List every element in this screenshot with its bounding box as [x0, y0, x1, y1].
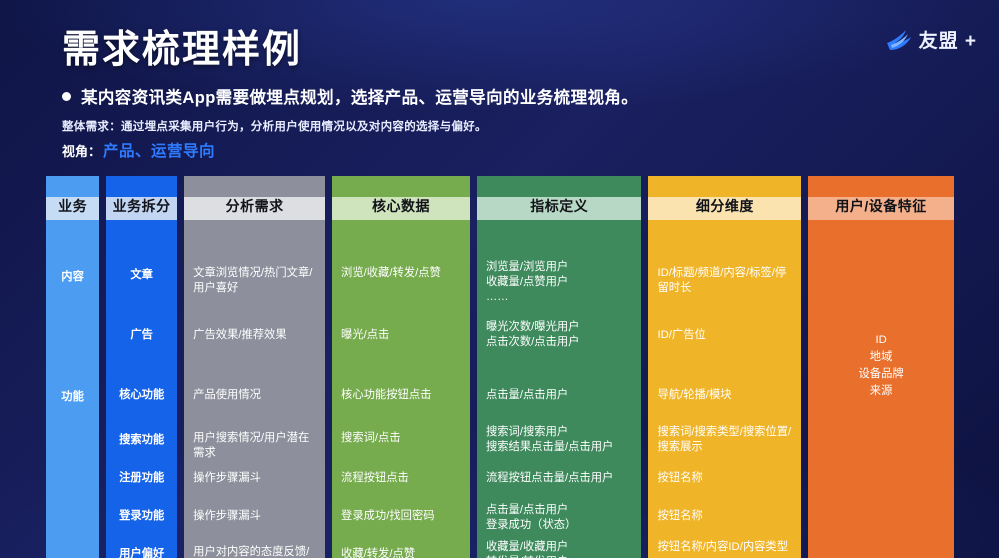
user-feature-line-3: 来源	[817, 383, 945, 400]
cell-analysis-1: 广告效果/推荐效果	[184, 328, 325, 343]
column-body-analysis: 文章浏览情况/热门文章/用户喜好 广告效果/推荐效果 产品使用情况 用户搜索情况…	[184, 220, 325, 558]
cell-core-data-0: 浏览/收藏/转发/点赞	[332, 266, 470, 281]
cell-core-data-4: 流程按钮点击	[332, 471, 470, 486]
header-band	[332, 176, 470, 197]
column-header-label: 业务拆分	[113, 196, 171, 220]
column-body-business: 内容 功能	[46, 220, 99, 558]
cell-breakdown-5: 登录功能	[106, 509, 177, 524]
cell-dimensions-3: 搜索词/搜索类型/搜索位置/搜索展示	[648, 425, 801, 455]
column-header-label: 分析需求	[226, 196, 284, 220]
user-feature-line-2: 设备品牌	[817, 366, 945, 383]
cell-core-data-5: 登录成功/找回密码	[332, 509, 470, 524]
header-band	[184, 176, 325, 197]
user-feature-line-0: ID	[817, 332, 945, 349]
column-header-dimensions: 细分维度	[648, 176, 801, 220]
column-header-label: 核心数据	[372, 196, 430, 220]
brand-name: 友盟 +	[919, 26, 977, 53]
column-body-metrics: 浏览量/浏览用户 收藏量/点赞用户 …… 曝光次数/曝光用户 点击次数/点击用户…	[477, 220, 642, 558]
cell-breakdown-1: 广告	[106, 328, 177, 343]
column-core-data: 核心数据 浏览/收藏/转发/点赞 曝光/点击 核心功能按钮点击 搜索词/点击 流…	[332, 176, 470, 558]
view-label: 视角：	[62, 141, 101, 160]
column-header-user-features: 用户/设备特征	[808, 176, 954, 220]
header-band	[477, 176, 642, 197]
view-value: 产品、运营导向	[103, 139, 215, 161]
cell-metrics-3: 搜索词/搜索用户 搜索结果点击量/点击用户	[477, 425, 642, 455]
requirements-table: 业务 内容 功能 业务拆分 文章 广告 核心功能 搜索功能 注册功能 登录功能 …	[46, 176, 954, 558]
view-row: 视角： 产品、运营导向	[62, 139, 215, 161]
column-header-label: 指标定义	[530, 196, 588, 220]
cell-dimensions-1: ID/广告位	[648, 328, 801, 343]
cell-analysis-4: 操作步骤漏斗	[184, 471, 325, 486]
cell-business-0: 内容	[46, 270, 99, 285]
header-band	[46, 176, 99, 197]
user-feature-line-1: 地域	[817, 349, 945, 366]
column-metrics: 指标定义 浏览量/浏览用户 收藏量/点赞用户 …… 曝光次数/曝光用户 点击次数…	[477, 176, 642, 558]
cell-metrics-1: 曝光次数/曝光用户 点击次数/点击用户	[477, 320, 642, 350]
cell-business-1: 功能	[46, 390, 99, 405]
cell-dimensions-2: 导航/轮播/模块	[648, 388, 801, 403]
column-business: 业务 内容 功能	[46, 176, 99, 558]
column-header-business: 业务	[46, 176, 99, 220]
cell-analysis-3: 用户搜索情况/用户潜在需求	[184, 431, 325, 461]
column-dimensions: 细分维度 ID/标题/频道/内容/标签/停留时长 ID/广告位 导航/轮播/模块…	[648, 176, 801, 558]
column-body-user-features: ID 地域 设备品牌 来源	[808, 220, 954, 558]
cell-dimensions-0: ID/标题/频道/内容/标签/停留时长	[648, 266, 801, 296]
cell-metrics-6: 收藏量/收藏用户 转发量/转发用户 点赞量/点赞用户	[477, 540, 642, 558]
overall-requirement-text: 整体需求：通过埋点采集用户行为，分析用户使用情况以及对内容的选择与偏好。	[62, 118, 487, 134]
column-header-breakdown: 业务拆分	[106, 176, 177, 220]
header-band	[648, 176, 801, 197]
cell-breakdown-0: 文章	[106, 268, 177, 283]
column-header-label: 业务	[58, 196, 87, 220]
brand-logo: 友盟 +	[886, 26, 977, 53]
column-header-metrics: 指标定义	[477, 176, 642, 220]
cell-metrics-0: 浏览量/浏览用户 收藏量/点赞用户 ……	[477, 260, 642, 305]
intro-bullet-row: 某内容资讯类App需要做埋点规划，选择产品、运营导向的业务梳理视角。	[62, 84, 638, 108]
column-analysis: 分析需求 文章浏览情况/热门文章/用户喜好 广告效果/推荐效果 产品使用情况 用…	[184, 176, 325, 558]
cell-breakdown-3: 搜索功能	[106, 433, 177, 448]
cell-user-features: ID 地域 设备品牌 来源	[808, 332, 954, 400]
cell-metrics-4: 流程按钮点击量/点击用户	[477, 471, 642, 486]
header-band	[106, 176, 177, 197]
header-band	[808, 176, 954, 197]
cell-breakdown-4: 注册功能	[106, 471, 177, 486]
cell-dimensions-5: 按钮名称	[648, 509, 801, 524]
cell-breakdown-2: 核心功能	[106, 388, 177, 403]
column-body-breakdown: 文章 广告 核心功能 搜索功能 注册功能 登录功能 用户偏好	[106, 220, 177, 558]
column-header-label: 细分维度	[696, 196, 754, 220]
cell-core-data-6: 收藏/转发/点赞	[332, 547, 470, 558]
wing-logo-icon	[886, 29, 912, 51]
cell-dimensions-6: 按钮名称/内容ID/内容类型	[648, 540, 801, 555]
cell-metrics-5: 点击量/点击用户 登录成功（状态）	[477, 503, 642, 533]
cell-core-data-1: 曝光/点击	[332, 328, 470, 343]
cell-core-data-2: 核心功能按钮点击	[332, 388, 470, 403]
column-header-analysis: 分析需求	[184, 176, 325, 220]
cell-core-data-3: 搜索词/点击	[332, 431, 470, 446]
column-user-features: 用户/设备特征 ID 地域 设备品牌 来源	[808, 176, 954, 558]
cell-breakdown-6: 用户偏好	[106, 547, 177, 558]
cell-analysis-5: 操作步骤漏斗	[184, 509, 325, 524]
column-header-core-data: 核心数据	[332, 176, 470, 220]
bullet-dot-icon	[62, 92, 71, 101]
cell-analysis-2: 产品使用情况	[184, 388, 325, 403]
column-body-core-data: 浏览/收藏/转发/点赞 曝光/点击 核心功能按钮点击 搜索词/点击 流程按钮点击…	[332, 220, 470, 558]
column-breakdown: 业务拆分 文章 广告 核心功能 搜索功能 注册功能 登录功能 用户偏好	[106, 176, 177, 558]
cell-metrics-2: 点击量/点击用户	[477, 388, 642, 403]
column-body-dimensions: ID/标题/频道/内容/标签/停留时长 ID/广告位 导航/轮播/模块 搜索词/…	[648, 220, 801, 558]
column-header-label: 用户/设备特征	[835, 196, 926, 220]
cell-analysis-6: 用户对内容的态度反馈/内容受欢迎程度	[184, 545, 325, 558]
intro-bullet-text: 某内容资讯类App需要做埋点规划，选择产品、运营导向的业务梳理视角。	[81, 84, 638, 108]
page-title: 需求梳理样例	[62, 18, 302, 73]
cell-dimensions-4: 按钮名称	[648, 471, 801, 486]
cell-analysis-0: 文章浏览情况/热门文章/用户喜好	[184, 266, 325, 296]
